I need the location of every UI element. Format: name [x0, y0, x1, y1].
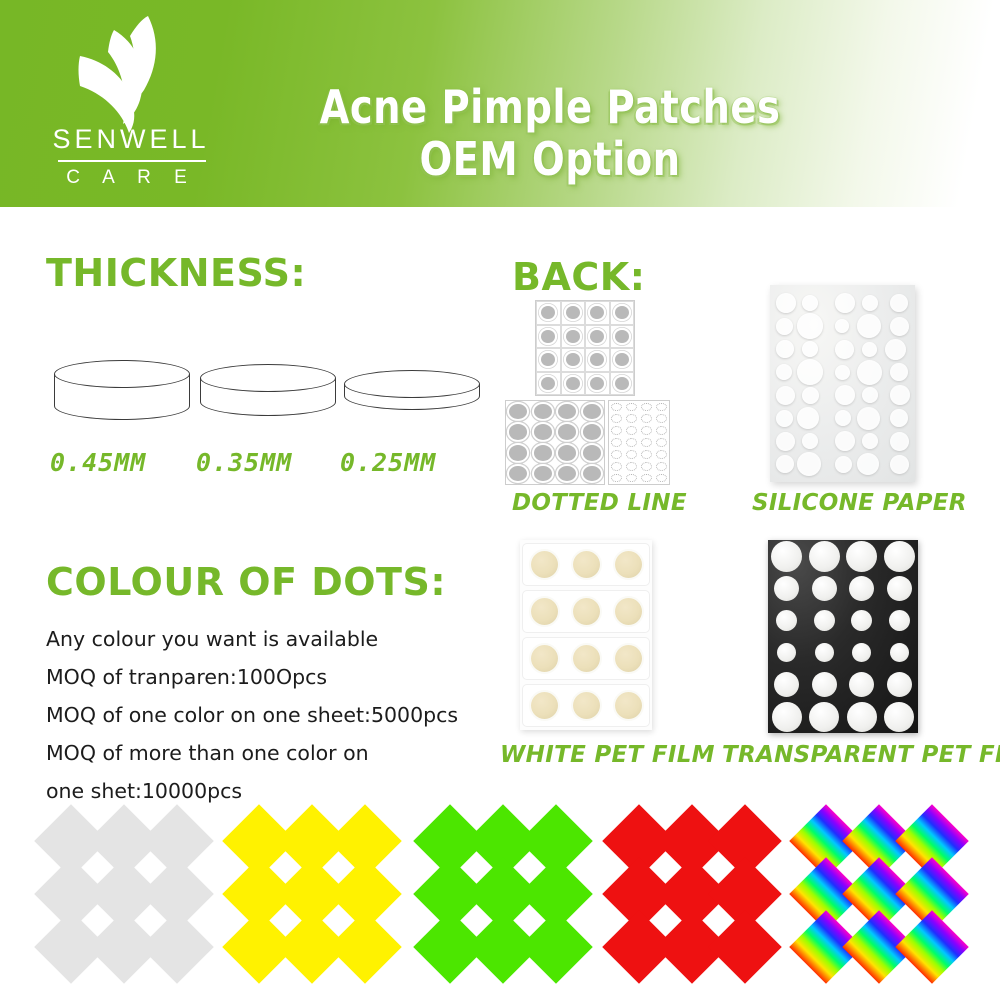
dot-cell — [585, 372, 610, 396]
white-film-strip — [522, 543, 650, 586]
diamond-tile — [895, 910, 969, 984]
hydrocolloid-dot — [573, 692, 600, 719]
patch-dot — [558, 445, 576, 460]
dot-cell — [624, 401, 639, 413]
colour-description-list: Any colour you want is availableMOQ of t… — [46, 620, 486, 810]
dot-cell — [555, 463, 580, 484]
patch-dot — [656, 426, 667, 435]
transparent-dot — [889, 610, 910, 631]
patch-dot — [534, 404, 552, 419]
brand-name: SENWELL — [40, 126, 222, 153]
colour-line-1: MOQ of tranparen:100Opcs — [46, 658, 486, 696]
patch-dot — [611, 403, 622, 412]
silicone-dot — [890, 294, 908, 312]
patch-dot — [558, 466, 576, 481]
patch-dot — [590, 353, 604, 366]
patch-dot — [641, 450, 652, 459]
hydrocolloid-dot — [531, 692, 558, 719]
dot-cell — [561, 325, 586, 349]
patch-dot — [626, 450, 637, 459]
patch-dot — [615, 330, 629, 343]
dot-cell — [639, 413, 654, 425]
thickness-disc-row: 0.45MM 0.35MM 0.25MM — [46, 360, 486, 490]
dot-cell — [531, 401, 556, 422]
thickness-label-2: 0.25MM — [340, 448, 490, 477]
patch-dot — [615, 306, 629, 319]
silicone-dot — [797, 313, 823, 339]
transparent-dot — [777, 643, 796, 662]
patch-dot — [626, 426, 637, 435]
patch-dot — [509, 404, 527, 419]
transparent-dot — [809, 702, 839, 732]
dot-cell — [654, 425, 669, 437]
transparent-dot — [890, 643, 909, 662]
patch-dot — [566, 330, 580, 343]
silicone-paper-figure — [770, 285, 915, 482]
white-pet-film-photo — [520, 540, 652, 730]
silicone-dot — [776, 455, 794, 473]
dot-cell — [580, 443, 605, 464]
silicone-dot — [890, 409, 908, 427]
patch-dot — [626, 474, 637, 483]
silicone-dot — [890, 363, 908, 381]
white-film-strip — [522, 637, 650, 680]
patch-dot — [509, 424, 527, 439]
silicone-dot — [835, 293, 855, 313]
hydrocolloid-dot — [573, 645, 600, 672]
transparent-dot — [851, 610, 872, 631]
silicone-dot — [776, 410, 793, 427]
disc-top-face — [200, 364, 336, 392]
dotted-sheet-cells — [535, 300, 635, 396]
dot-cell — [624, 472, 639, 484]
patch-dot — [541, 306, 555, 319]
page-title: Acne Pimple Patches OEM Option — [234, 82, 866, 186]
dot-cell — [654, 413, 669, 425]
patch-dot — [626, 462, 637, 471]
patch-dot — [583, 404, 601, 419]
silicone-dot — [797, 407, 819, 429]
dot-cell — [555, 401, 580, 422]
silicone-dot — [776, 364, 792, 380]
silicone-dot — [885, 339, 906, 360]
dot-cell — [639, 472, 654, 484]
dot-cell — [609, 460, 624, 472]
silicone-dot — [835, 385, 855, 405]
caption-dotted-line: DOTTED LINE — [512, 490, 687, 516]
diamond-pattern — [800, 815, 960, 975]
silicone-dot — [835, 365, 850, 380]
dot-cell — [536, 372, 561, 396]
patch-dot — [590, 330, 604, 343]
caption-transparent-pet-film: TRANSPARENT PET FILM — [722, 742, 1000, 768]
diamond-tile — [328, 910, 402, 984]
dot-cell — [624, 425, 639, 437]
dot-cell — [654, 437, 669, 449]
hydrocolloid-dot — [615, 692, 642, 719]
dot-cell — [506, 463, 531, 484]
diamond-pattern — [233, 815, 393, 975]
dot-grid — [609, 401, 669, 484]
dot-cell — [561, 348, 586, 372]
page-title-line2: OEM Option — [234, 134, 866, 186]
silicone-paper-photo — [770, 285, 915, 482]
patch-dot — [566, 377, 580, 390]
dot-cell — [654, 460, 669, 472]
dotted-sheet-outlines — [608, 400, 670, 485]
brand-subtitle: C A R E — [40, 166, 222, 191]
transparent-dot — [884, 702, 914, 732]
dot-cell — [585, 348, 610, 372]
dot-cell — [506, 443, 531, 464]
patch-dot — [615, 353, 629, 366]
silicone-dot — [776, 293, 796, 313]
dot-cell — [531, 463, 556, 484]
patch-dot — [534, 466, 552, 481]
patch-dot — [611, 414, 622, 423]
patch-dot — [626, 403, 637, 412]
colour-line-4: one shet:10000pcs — [46, 772, 486, 810]
patch-dot — [611, 438, 622, 447]
silicone-dot — [890, 455, 909, 474]
dot-cell — [506, 422, 531, 443]
patch-dot — [641, 462, 652, 471]
dot-cell — [624, 437, 639, 449]
transparent-dot — [772, 702, 802, 732]
dot-cell — [639, 460, 654, 472]
dot-cell — [585, 301, 610, 325]
silicone-dot — [890, 432, 909, 451]
colour-heading: COLOUR OF DOTS: — [46, 560, 446, 604]
dot-cell — [624, 448, 639, 460]
colour-line-2: MOQ of one color on one sheet:5000pcs — [46, 696, 486, 734]
thickness-label-0: 0.45MM — [50, 448, 200, 477]
colour-swatch-rainbow[interactable] — [800, 815, 960, 975]
colour-line-0: Any colour you want is available — [46, 620, 486, 658]
silicone-dot — [797, 452, 821, 476]
silicone-dot — [797, 359, 823, 385]
caption-white-pet-film: WHITE PET FILM — [500, 742, 715, 768]
dot-cell — [610, 372, 635, 396]
dot-grid — [536, 301, 634, 395]
dot-cell — [654, 401, 669, 413]
patch-dot — [641, 438, 652, 447]
transparent-dot — [852, 643, 871, 662]
page-header: SENWELL C A R E Acne Pimple Patches OEM … — [0, 0, 1000, 207]
patch-dot — [583, 445, 601, 460]
transparent-dot — [774, 576, 799, 601]
patch-dot — [583, 466, 601, 481]
patch-dot — [641, 474, 652, 483]
dot-cell — [639, 448, 654, 460]
patch-dot — [656, 450, 667, 459]
silicone-dot — [862, 433, 878, 449]
transparent-pet-film-figure — [768, 540, 918, 733]
dot-cell — [609, 413, 624, 425]
patch-dot — [566, 306, 580, 319]
patch-dot — [611, 450, 622, 459]
dot-cell — [536, 348, 561, 372]
transparent-dot — [849, 672, 874, 697]
transparent-dot — [887, 576, 912, 601]
hydrocolloid-dot — [573, 598, 600, 625]
silicone-dot — [857, 360, 882, 385]
patch-dot — [656, 462, 667, 471]
brand-logo: SENWELL C A R E — [36, 14, 226, 196]
flame-leaf-logo-icon — [52, 14, 192, 134]
transparent-dot — [846, 541, 877, 572]
silicone-dot — [857, 314, 881, 338]
dot-cell — [555, 443, 580, 464]
dot-cell — [531, 422, 556, 443]
caption-silicone-paper: SILICONE PAPER — [752, 490, 967, 516]
colour-swatch-green[interactable] — [424, 815, 584, 975]
silicone-dot — [835, 431, 855, 451]
silicone-dot — [835, 456, 852, 473]
dot-grid — [506, 401, 604, 484]
transparent-dot — [887, 672, 912, 697]
dotted-sheet-rings — [505, 400, 605, 485]
patch-dot — [541, 377, 555, 390]
silicone-dot — [776, 340, 794, 358]
transparent-dot — [884, 541, 915, 572]
dot-cell — [506, 401, 531, 422]
transparent-dot — [815, 643, 834, 662]
dot-cell — [609, 472, 624, 484]
thickness-label-1: 0.35MM — [196, 448, 346, 477]
colour-line-3: MOQ of more than one color on — [46, 734, 486, 772]
silicone-dot — [835, 410, 851, 426]
silicone-dot — [835, 319, 849, 333]
colour-swatch-red[interactable] — [613, 815, 773, 975]
dot-cell — [580, 422, 605, 443]
patch-dot — [611, 426, 622, 435]
hydrocolloid-dot — [531, 645, 558, 672]
patch-dot — [541, 353, 555, 366]
transparent-dot — [812, 576, 837, 601]
transparent-dot — [814, 610, 835, 631]
transparent-dot — [847, 702, 877, 732]
diamond-tile — [708, 910, 782, 984]
patch-dot — [509, 466, 527, 481]
hydrocolloid-dot — [531, 551, 558, 578]
dot-cell — [531, 443, 556, 464]
patch-dot — [558, 404, 576, 419]
dot-cell — [609, 401, 624, 413]
patch-dot — [641, 414, 652, 423]
colour-swatch-transparent-white[interactable] — [45, 815, 205, 975]
dot-cell — [610, 301, 635, 325]
dot-cell — [609, 448, 624, 460]
silicone-dot — [776, 318, 793, 335]
patch-dot — [611, 474, 622, 483]
hydrocolloid-dot — [573, 551, 600, 578]
diamond-tile — [519, 910, 593, 984]
silicone-dot — [802, 295, 818, 311]
patch-dot — [656, 414, 667, 423]
silicone-dot — [862, 342, 877, 357]
brand-divider — [58, 160, 206, 162]
back-heading: BACK: — [512, 255, 645, 299]
dot-cell — [654, 472, 669, 484]
dot-cell — [555, 422, 580, 443]
silicone-dot — [890, 385, 910, 405]
diamond-pattern — [613, 815, 773, 975]
white-film-strip — [522, 590, 650, 633]
transparent-dot — [771, 541, 802, 572]
patch-dot — [641, 426, 652, 435]
diamond-pattern — [45, 815, 205, 975]
patch-dot — [615, 377, 629, 390]
patch-dot — [656, 474, 667, 483]
transparent-dot — [809, 541, 840, 572]
patch-dot — [641, 403, 652, 412]
colour-swatch-row — [0, 815, 1000, 990]
silicone-dot — [862, 387, 878, 403]
infographic-page: SENWELL C A R E Acne Pimple Patches OEM … — [0, 0, 1000, 1000]
silicone-dot — [776, 386, 795, 405]
dot-cell — [609, 437, 624, 449]
patch-dot — [566, 353, 580, 366]
silicone-dot — [890, 317, 909, 336]
silicone-dot — [802, 433, 818, 449]
dot-cell — [536, 325, 561, 349]
silicone-dot — [802, 387, 819, 404]
patch-dot — [534, 445, 552, 460]
white-film-strip — [522, 684, 650, 727]
patch-dot — [656, 438, 667, 447]
transparent-dot — [774, 672, 799, 697]
transparent-dot — [776, 610, 797, 631]
patch-dot — [590, 377, 604, 390]
dot-cell — [585, 325, 610, 349]
patch-dot — [626, 438, 637, 447]
diamond-tile — [140, 910, 214, 984]
thickness-heading: THICKNESS: — [46, 251, 306, 295]
dot-cell — [536, 301, 561, 325]
transparent-dot — [849, 576, 874, 601]
hydrocolloid-dot — [615, 645, 642, 672]
dot-cell — [561, 372, 586, 396]
patch-dot — [558, 424, 576, 439]
diamond-pattern — [424, 815, 584, 975]
dot-cell — [610, 325, 635, 349]
silicone-dot — [835, 340, 854, 359]
dot-cell — [610, 348, 635, 372]
patch-dot — [656, 403, 667, 412]
dot-cell — [609, 425, 624, 437]
patch-dot — [541, 330, 555, 343]
disc-top-face — [344, 370, 480, 398]
dot-cell — [639, 401, 654, 413]
patch-dot — [611, 462, 622, 471]
disc-top-face — [54, 360, 190, 388]
dot-cell — [624, 460, 639, 472]
patch-dot — [590, 306, 604, 319]
colour-swatch-yellow[interactable] — [233, 815, 393, 975]
patch-dot — [583, 424, 601, 439]
hydrocolloid-dot — [615, 598, 642, 625]
patch-dot — [626, 414, 637, 423]
patch-dot — [534, 424, 552, 439]
dot-cell — [639, 437, 654, 449]
patch-dot — [509, 445, 527, 460]
silicone-dot — [862, 295, 878, 311]
silicone-dot — [776, 432, 795, 451]
transparent-pet-film-photo — [768, 540, 918, 733]
dot-cell — [639, 425, 654, 437]
dotted-line-figure — [505, 300, 695, 485]
silicone-dot — [802, 341, 818, 357]
dot-cell — [654, 448, 669, 460]
silicone-dot — [857, 407, 880, 430]
silicone-dot — [857, 453, 879, 475]
transparent-dot — [812, 672, 837, 697]
dot-cell — [624, 413, 639, 425]
white-pet-film-figure — [520, 540, 652, 730]
dot-cell — [561, 301, 586, 325]
hydrocolloid-dot — [531, 598, 558, 625]
dot-cell — [580, 463, 605, 484]
hydrocolloid-dot — [615, 551, 642, 578]
dot-cell — [580, 401, 605, 422]
page-title-line1: Acne Pimple Patches — [320, 80, 781, 134]
